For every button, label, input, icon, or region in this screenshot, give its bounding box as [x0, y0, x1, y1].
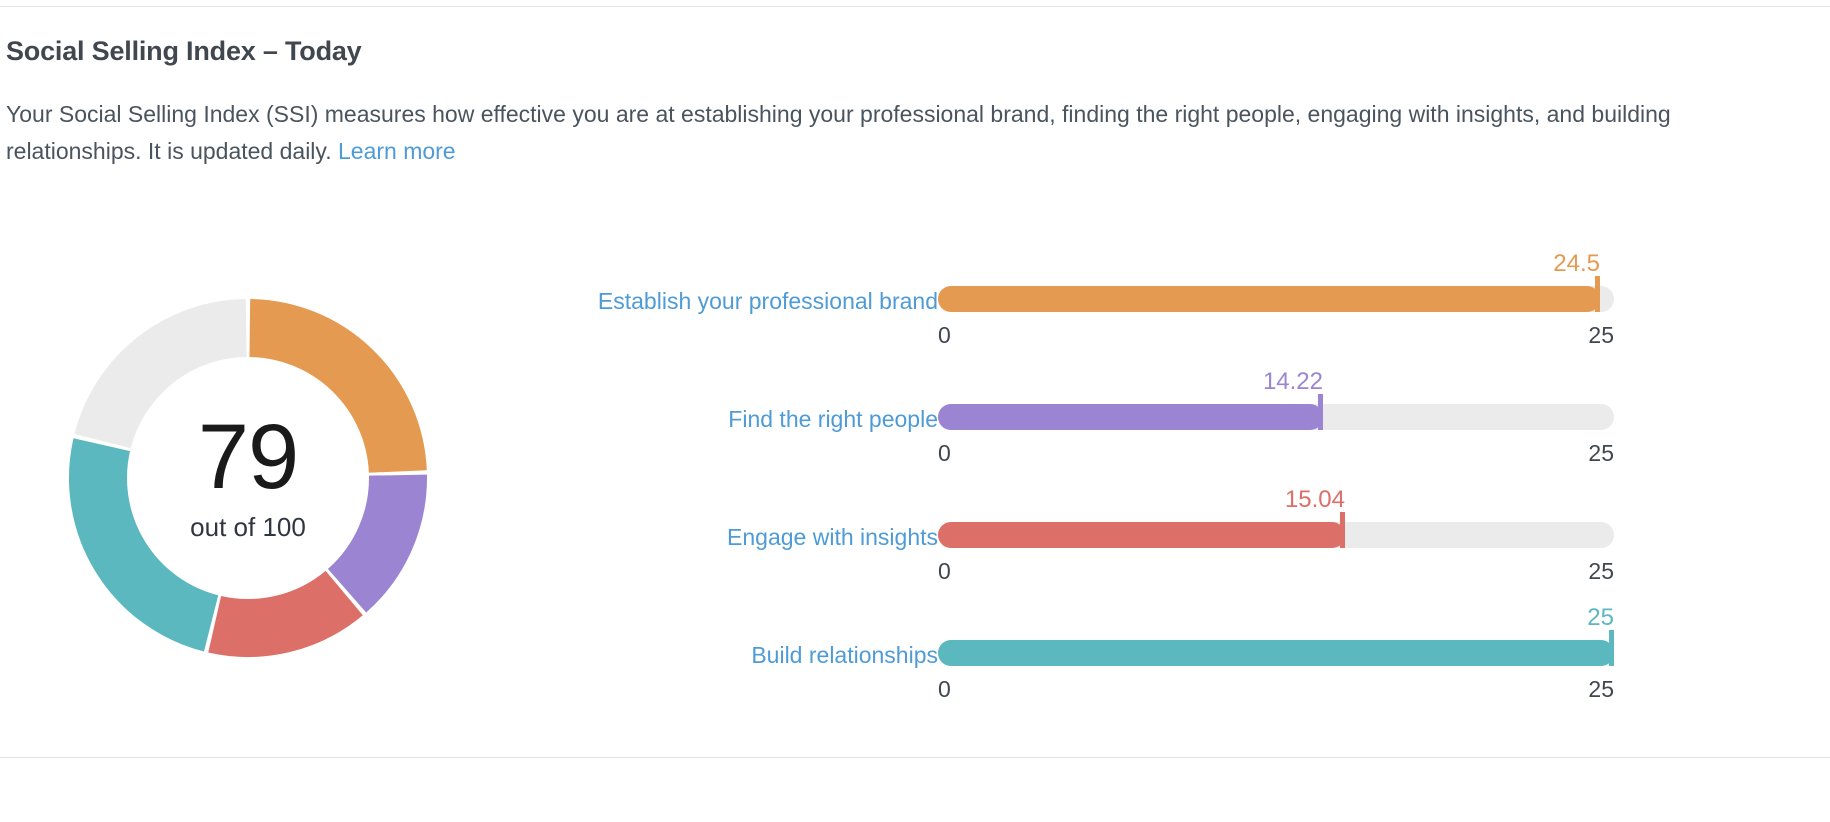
ssi-bar-row: Engage with insights15.04025 — [690, 494, 1800, 612]
bar-label-link[interactable]: Establish your professional brand — [598, 288, 938, 315]
axis-min-label: 0 — [938, 676, 951, 703]
ssi-bar-row: Establish your professional brand24.5025 — [690, 258, 1800, 376]
donut-segment — [98, 445, 211, 624]
ssi-donut-chart: 79 out of 100 — [62, 292, 434, 664]
bar-value-tick — [1340, 512, 1345, 548]
page-description: Your Social Selling Index (SSI) measures… — [6, 96, 1806, 170]
axis-max-label: 25 — [1588, 440, 1614, 467]
bar-fill — [938, 522, 1345, 548]
bar-track-wrapper: 25025 — [938, 612, 1614, 730]
bar-label-link[interactable]: Build relationships — [751, 642, 938, 669]
ssi-bar-row: Find the right people14.22025 — [690, 376, 1800, 494]
bar-value-tick — [1318, 394, 1323, 430]
bar-track-wrapper: 15.04025 — [938, 494, 1614, 612]
bar-fill — [938, 404, 1323, 430]
axis-max-label: 25 — [1588, 558, 1614, 585]
bar-value-label: 25 — [1587, 604, 1614, 632]
bar-value-tick — [1595, 276, 1600, 312]
axis-min-label: 0 — [938, 322, 951, 349]
donut-segment — [103, 328, 247, 441]
ssi-page: Social Selling Index – Today Your Social… — [0, 0, 1830, 822]
axis-max-label: 25 — [1588, 322, 1614, 349]
bar-track-wrapper: 24.5025 — [938, 258, 1614, 376]
page-title: Social Selling Index – Today — [6, 36, 362, 67]
learn-more-link[interactable]: Learn more — [338, 138, 456, 164]
donut-segment — [250, 328, 398, 471]
bar-label-link[interactable]: Find the right people — [728, 406, 938, 433]
ssi-bar-row: Build relationships25025 — [690, 612, 1800, 730]
bar-value-label: 14.22 — [1263, 368, 1323, 396]
bar-track-wrapper: 14.22025 — [938, 376, 1614, 494]
axis-max-label: 25 — [1588, 676, 1614, 703]
bar-value-label: 24.5 — [1553, 250, 1600, 278]
donut-segment — [347, 475, 398, 591]
bottom-divider — [0, 757, 1830, 758]
bar-value-label: 15.04 — [1285, 486, 1345, 514]
axis-min-label: 0 — [938, 558, 951, 585]
ssi-bar-list: Establish your professional brand24.5025… — [690, 258, 1800, 730]
donut-segments — [98, 328, 398, 628]
bar-label-link[interactable]: Engage with insights — [727, 524, 938, 551]
bar-value-tick — [1609, 630, 1614, 666]
donut-svg — [62, 292, 434, 664]
bar-fill — [938, 640, 1614, 666]
bar-fill — [938, 286, 1600, 312]
donut-segment — [215, 593, 345, 628]
axis-min-label: 0 — [938, 440, 951, 467]
top-divider — [0, 6, 1830, 7]
description-text: Your Social Selling Index (SSI) measures… — [6, 101, 1671, 164]
